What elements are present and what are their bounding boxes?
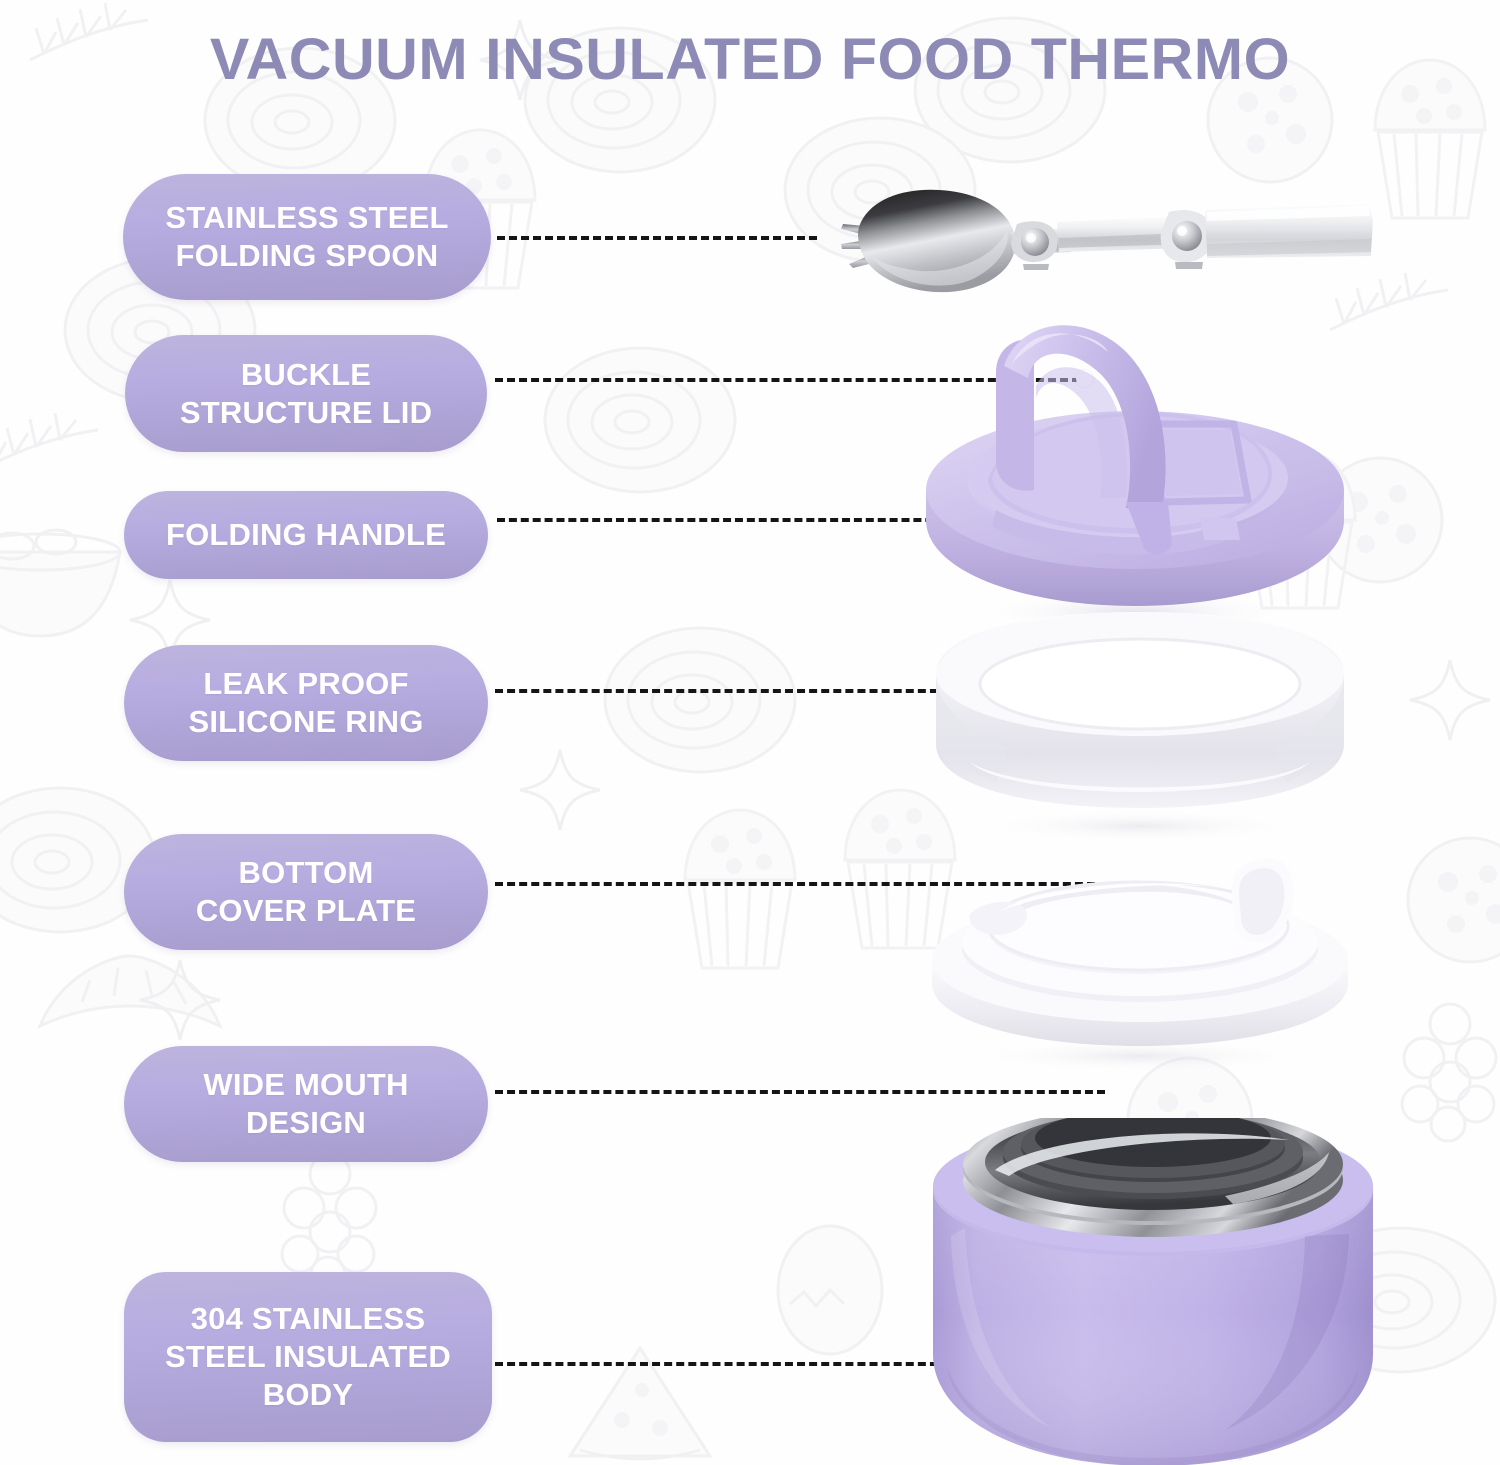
callout-wide-mouth-design[interactable]: WIDE MOUTH DESIGN [124,1046,488,1162]
callout-label: BUCKLE STRUCTURE LID [180,356,432,432]
product-infographic: VACUUM INSULATED FOOD THERMO STAINLESS S… [0,0,1500,1465]
callout-304-stainless-steel-insulated-body[interactable]: 304 STAINLESS STEEL INSULATED BODY [124,1272,492,1442]
callout-label: FOLDING HANDLE [166,516,446,554]
bottom-cover-plate-illustration [928,842,1353,1072]
page-title: VACUUM INSULATED FOOD THERMO [0,26,1500,93]
callout-label: BOTTOM COVER PLATE [196,854,416,930]
buckle-structure-lid-illustration [900,312,1370,632]
callout-leak-proof-silicone-ring[interactable]: LEAK PROOF SILICONE RING [124,645,488,761]
callout-folding-handle[interactable]: FOLDING HANDLE [124,491,488,579]
connector-line-spoon [497,236,817,240]
leak-proof-silicone-ring-illustration [930,612,1350,842]
callout-label: LEAK PROOF SILICONE RING [188,665,423,741]
callout-label: STAINLESS STEEL FOLDING SPOON [165,199,448,275]
callout-bottom-cover-plate[interactable]: BOTTOM COVER PLATE [124,834,488,950]
connector-line-wide-mouth [495,1090,1105,1094]
304-stainless-steel-insulated-body-illustration [925,1118,1380,1465]
callout-label: WIDE MOUTH DESIGN [203,1066,408,1142]
callout-label: 304 STAINLESS STEEL INSULATED BODY [165,1300,451,1413]
folding-spork-illustration [835,182,1375,302]
callout-stainless-steel-folding-spoon[interactable]: STAINLESS STEEL FOLDING SPOON [123,174,491,300]
callout-buckle-structure-lid[interactable]: BUCKLE STRUCTURE LID [125,335,487,452]
connector-line-handle [497,518,969,522]
